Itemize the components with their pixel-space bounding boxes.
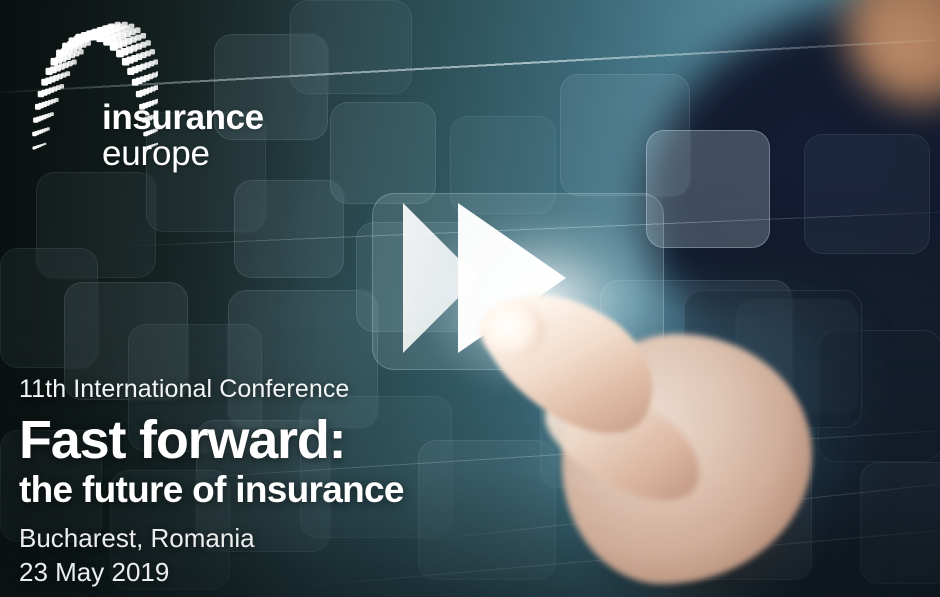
logo-grid-square <box>129 24 135 30</box>
logo-grid-square <box>150 49 155 54</box>
logo-grid-square <box>153 60 158 65</box>
logo-grid-square <box>50 112 54 116</box>
logo-grid-square <box>60 84 65 89</box>
headline-title: Fast forward: <box>19 413 539 467</box>
logo-grid-square <box>135 27 141 33</box>
logo-grid-square <box>145 40 151 46</box>
headline-block: 11th International Conference Fast forwa… <box>19 375 539 589</box>
logo-grid-square <box>156 71 158 76</box>
conference-kicker: 11th International Conference <box>19 375 539 404</box>
logo-grid-square <box>42 143 44 145</box>
hand-fingertip <box>480 302 546 358</box>
logo-grid-square <box>55 98 59 102</box>
conference-banner: insurance europe 11th International Conf… <box>0 0 940 597</box>
logo-grid-square <box>72 60 77 65</box>
logo-wordmark: insurance europe <box>102 101 264 170</box>
logo-grid-square <box>65 71 70 76</box>
logo-grid-square <box>47 127 50 130</box>
logo-grid-square <box>44 143 46 145</box>
logo-grid-square <box>140 33 146 39</box>
headline-subtitle: the future of insurance <box>19 469 539 510</box>
logo-word-europe: europe <box>102 137 264 171</box>
event-date: 23 May 2019 <box>19 556 539 589</box>
logo-grid-square <box>78 49 83 54</box>
insurance-europe-logo[interactable]: insurance europe <box>18 16 268 168</box>
event-location: Bucharest, Romania <box>19 522 539 555</box>
logo-grid-square <box>123 25 129 31</box>
logo-grid-square <box>154 85 158 90</box>
logo-word-insurance: insurance <box>102 101 264 135</box>
